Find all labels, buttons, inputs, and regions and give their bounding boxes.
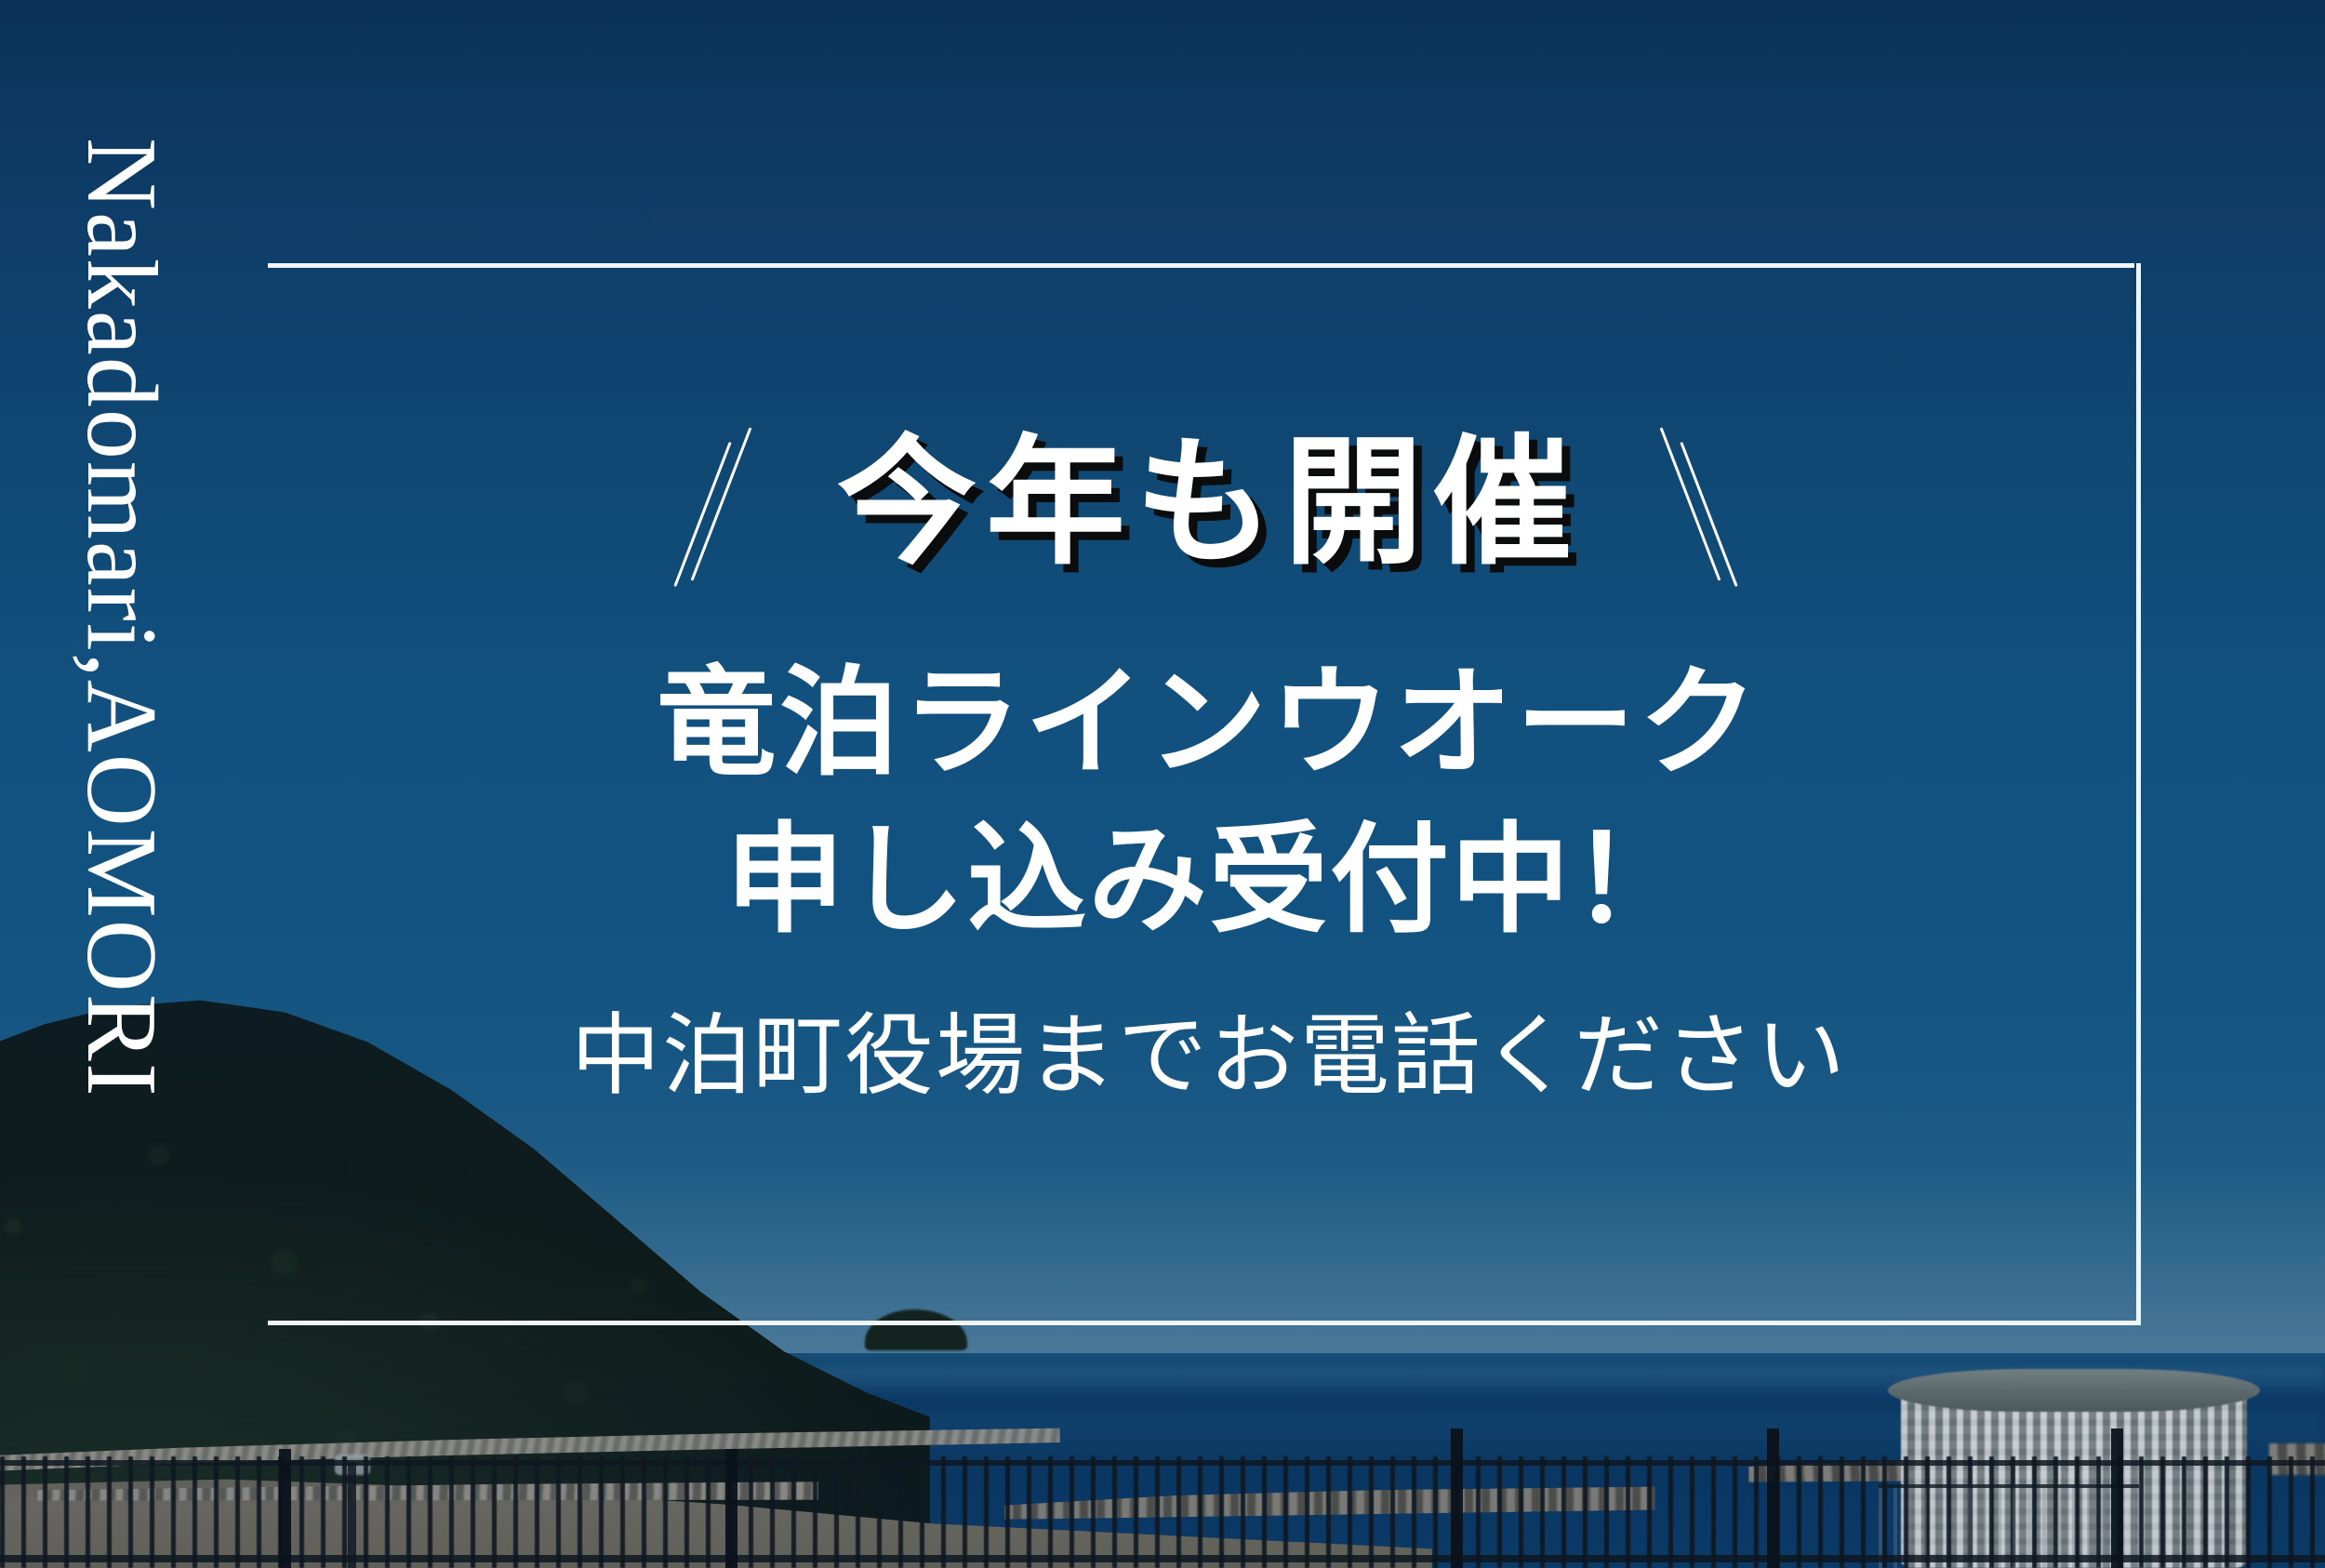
slash-ornament-left-icon <box>623 417 818 593</box>
subheadline-line-2: 申し込み受付中！ <box>657 803 1761 960</box>
headline: 今年も開催 <box>818 432 1600 578</box>
fence-rail-bottom <box>0 1555 2325 1562</box>
subheadline: 竜泊ラインウオーク 申し込み受付中！ <box>657 645 1761 960</box>
slash-ornament-right-icon <box>1600 417 1795 593</box>
subheadline-line-1: 竜泊ラインウオーク <box>657 645 1761 803</box>
fence-post <box>279 1449 291 1568</box>
headline-row: 今年も開催 <box>279 417 2139 593</box>
distant-hills <box>651 210 2325 231</box>
fence-post <box>2111 1428 2123 1568</box>
fence-post <box>1451 1428 1463 1568</box>
fence-post <box>1767 1428 1779 1568</box>
caption-text: 中泊町役場までお電話ください <box>571 1003 1847 1110</box>
poster-content: 今年も開催 竜泊ラインウオーク 申し込み受付中！ 中泊町役場までお電話ください <box>279 263 2139 1325</box>
cylinder-cap <box>1888 1369 2260 1412</box>
fence-post <box>725 1449 737 1568</box>
poster-root: Nakadomari,AOMORI 今年も開催 竜泊ラインウオーク 申し込み受付… <box>0 0 2325 1568</box>
